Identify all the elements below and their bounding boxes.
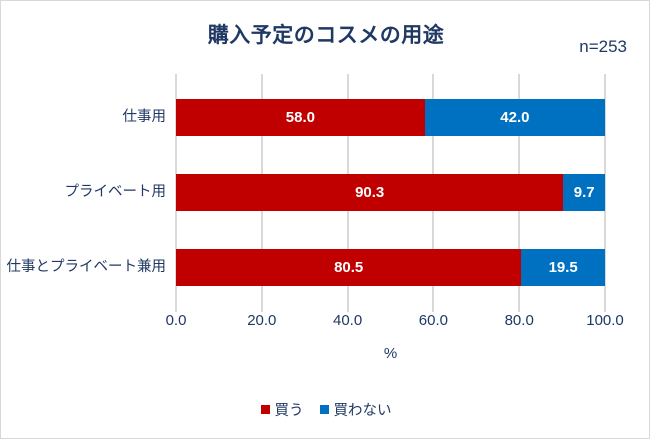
- x-axis-tick-label: 20.0: [247, 312, 276, 329]
- chart-legend: 買う買わない: [1, 399, 650, 420]
- legend-item[interactable]: 買う: [261, 399, 304, 420]
- legend-label: 買う: [275, 399, 304, 420]
- bar-segment-not-buy[interactable]: 42.0: [425, 99, 605, 136]
- legend-swatch-icon: [261, 405, 270, 414]
- chart-title: 購入予定のコスメの用途: [1, 19, 650, 49]
- bar-row: 80.519.5: [176, 249, 605, 286]
- bar-segment-not-buy[interactable]: 9.7: [563, 174, 605, 211]
- bar-row: 58.042.0: [176, 99, 605, 136]
- x-axis-tick-label: 100.0: [586, 312, 624, 329]
- bar-value-label: 58.0: [286, 109, 315, 126]
- bar-value-label: 90.3: [355, 184, 384, 201]
- plot-area: 58.042.090.39.780.519.5: [176, 74, 605, 304]
- x-axis-title: %: [176, 345, 605, 362]
- x-axis-tick-label: 0.0: [166, 312, 187, 329]
- category-label: 仕事用: [1, 99, 166, 136]
- x-axis-tick-label: 60.0: [419, 312, 448, 329]
- legend-item[interactable]: 買わない: [320, 399, 392, 420]
- bar-segment-buy[interactable]: 80.5: [176, 249, 521, 286]
- bar-value-label: 9.7: [574, 184, 595, 201]
- category-label: 仕事とプライベート兼用: [1, 249, 166, 286]
- legend-label: 買わない: [334, 399, 392, 420]
- bar-segment-buy[interactable]: 90.3: [176, 174, 563, 211]
- bar-segment-not-buy[interactable]: 19.5: [521, 249, 605, 286]
- bar-value-label: 80.5: [334, 259, 363, 276]
- category-label: プライベート用: [1, 174, 166, 211]
- chart-container: 購入予定のコスメの用途 n=253 58.042.090.39.780.519.…: [0, 0, 650, 439]
- sample-size-label: n=253: [579, 37, 627, 57]
- bar-row: 90.39.7: [176, 174, 605, 211]
- bar-value-label: 42.0: [500, 109, 529, 126]
- x-axis-tick-label: 80.0: [505, 312, 534, 329]
- legend-swatch-icon: [320, 405, 329, 414]
- bar-segment-buy[interactable]: 58.0: [176, 99, 425, 136]
- x-axis-tick-label: 40.0: [333, 312, 362, 329]
- bar-value-label: 19.5: [549, 259, 578, 276]
